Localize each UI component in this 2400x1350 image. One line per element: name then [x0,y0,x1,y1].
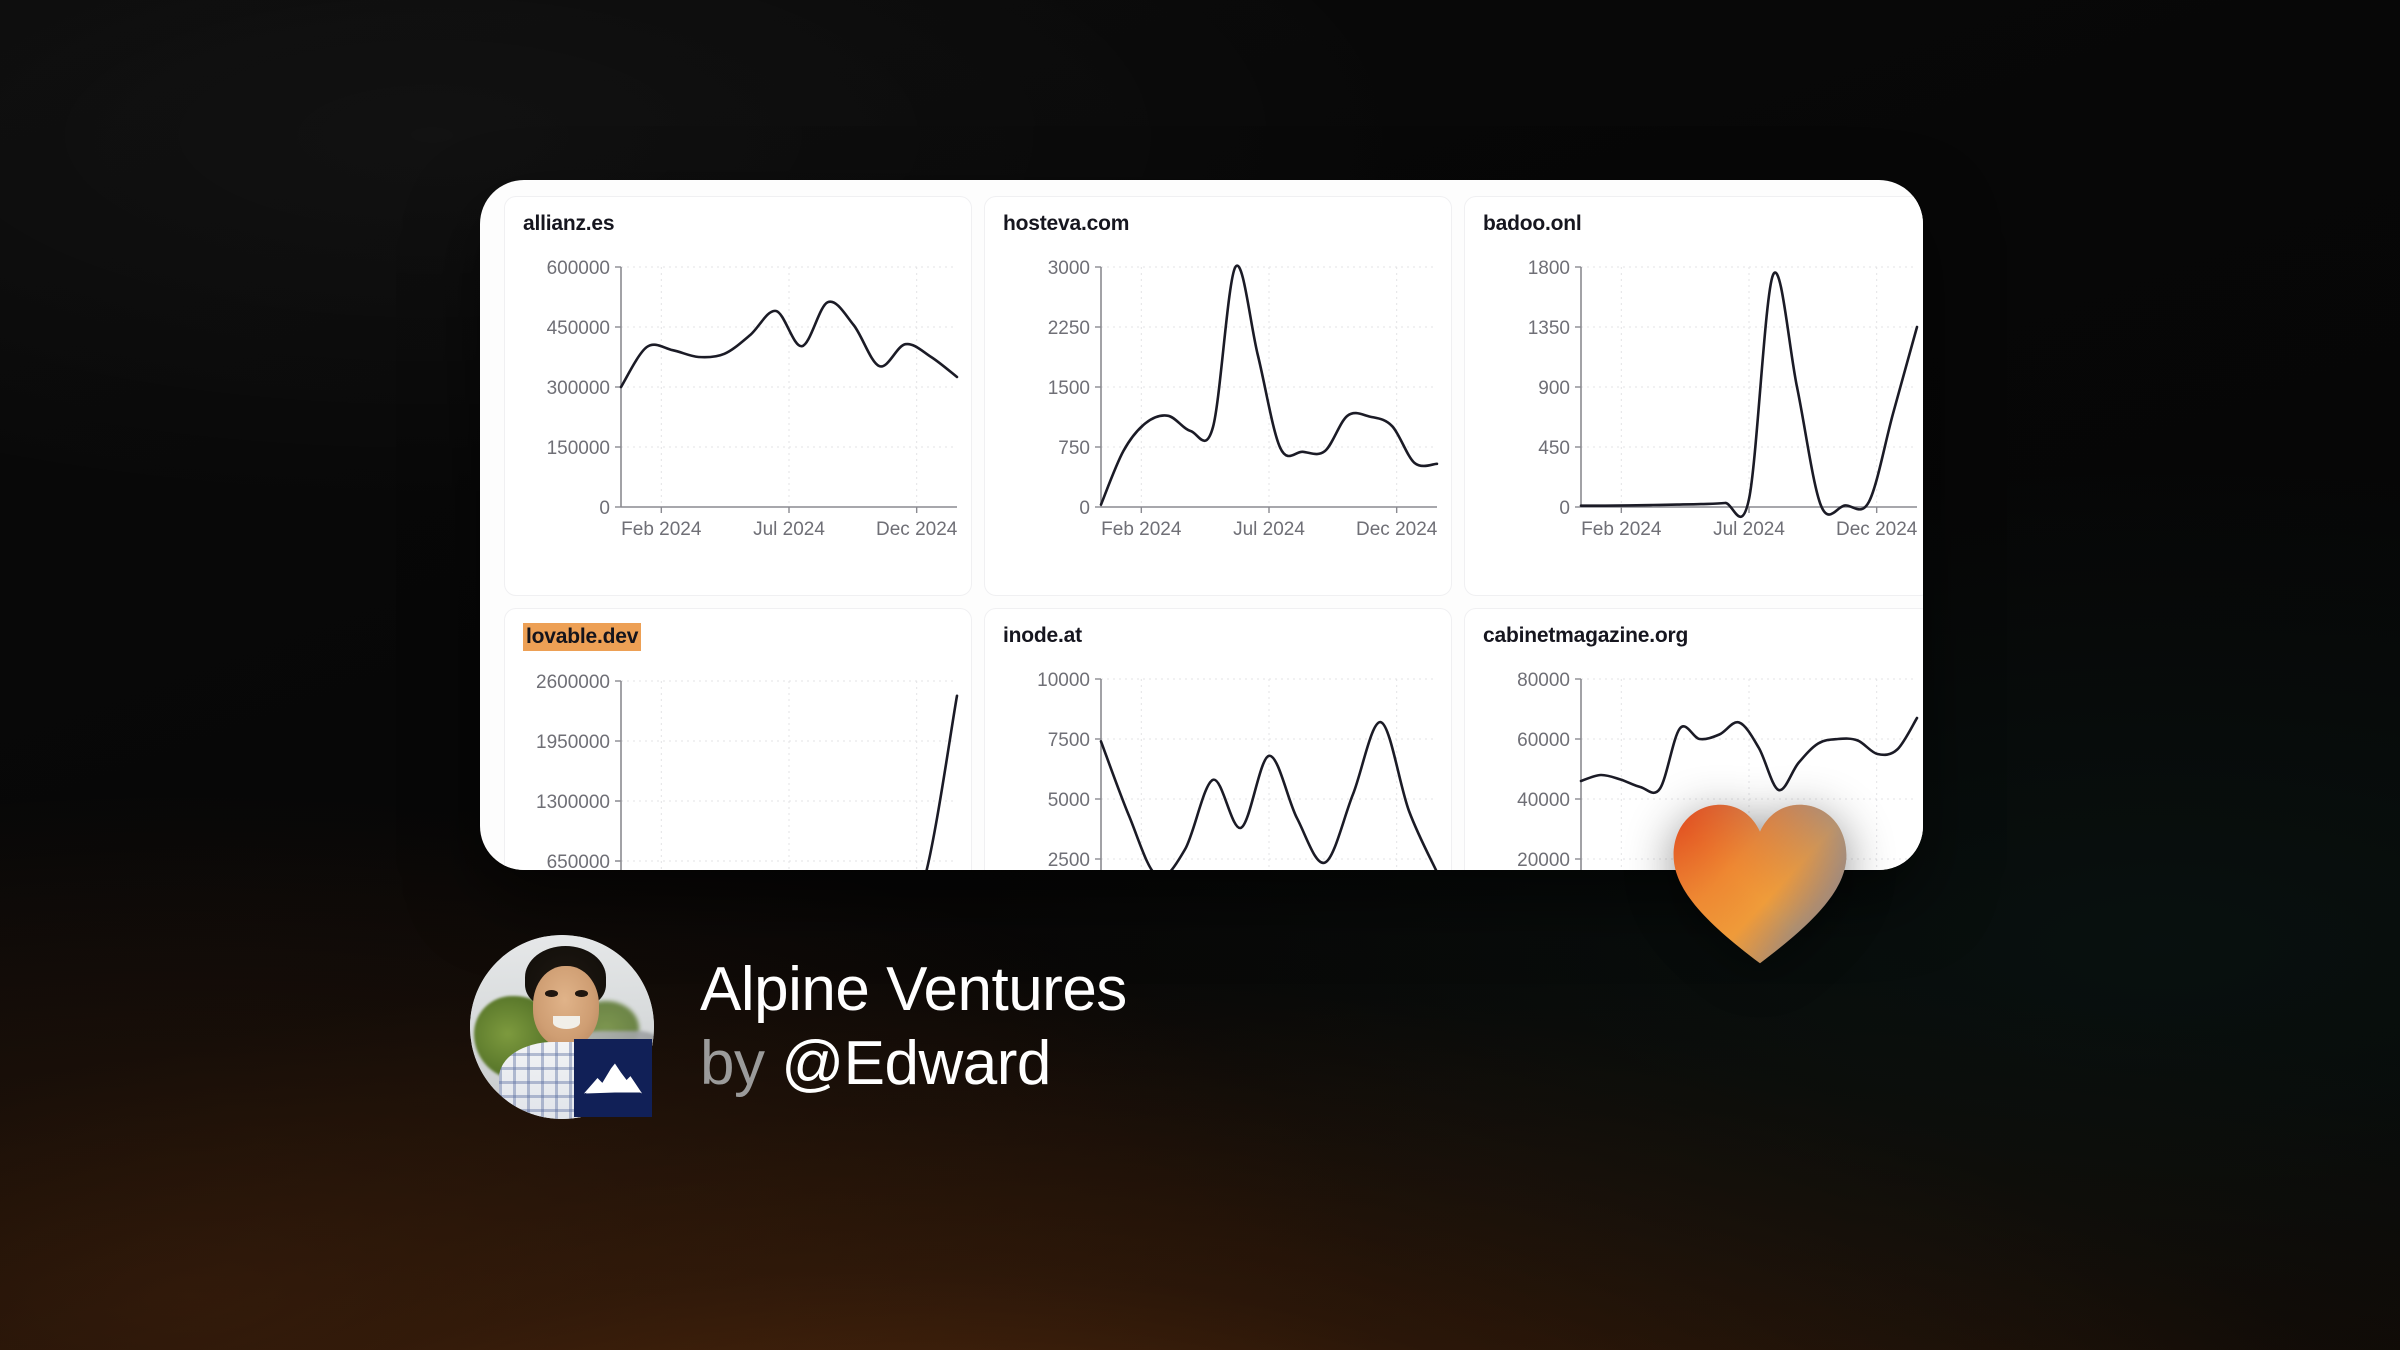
svg-text:Jul 2024: Jul 2024 [753,519,825,540]
svg-text:10000: 10000 [1037,670,1090,691]
page-title: Alpine Ventures [700,957,1127,1023]
byline: by @Edward [700,1031,1127,1097]
chart-card[interactable]: lovable.dev650000130000019500002600000Fe… [504,608,972,870]
svg-text:0: 0 [1079,498,1090,519]
mountain-icon [582,1058,644,1098]
dashboard-panel: allianz.es0150000300000450000600000Feb 2… [480,180,1923,870]
svg-text:1800: 1800 [1528,258,1570,279]
chart-card-title: hosteva.com [1003,211,1129,237]
svg-text:Dec 2024: Dec 2024 [1836,519,1918,540]
mountain-logo-badge[interactable] [574,1039,652,1117]
chart-card[interactable]: inode.at25005000750010000Feb 2024Jul 202… [984,608,1452,870]
line-chart: 0150000300000450000600000Feb 2024Jul 202… [523,253,965,553]
svg-text:150000: 150000 [547,438,610,459]
svg-text:0: 0 [599,498,610,519]
svg-text:Feb 2024: Feb 2024 [1581,519,1662,540]
svg-text:60000: 60000 [1517,730,1570,751]
svg-text:2600000: 2600000 [536,672,610,693]
svg-text:Feb 2024: Feb 2024 [621,519,702,540]
svg-text:3000: 3000 [1048,258,1090,279]
avatar-eye-left [545,990,558,997]
byline-label: by [700,1029,764,1098]
svg-text:Feb 2024: Feb 2024 [1101,519,1182,540]
line-chart: 045090013501800Feb 2024Jul 2024Dec 2024 [1483,253,1923,553]
svg-text:1950000: 1950000 [536,732,610,753]
svg-text:20000: 20000 [1517,850,1570,870]
footer: Alpine Ventures by @Edward [470,935,1127,1119]
svg-text:5000: 5000 [1048,790,1090,811]
svg-text:750: 750 [1058,438,1090,459]
avatar-smile [553,1016,581,1029]
svg-text:7500: 7500 [1048,730,1090,751]
chart-card[interactable]: hosteva.com0750150022503000Feb 2024Jul 2… [984,196,1452,596]
svg-text:300000: 300000 [547,378,610,399]
chart-card-title: inode.at [1003,623,1082,649]
chart-grid: allianz.es0150000300000450000600000Feb 2… [498,190,1923,870]
heart-icon [1670,800,1850,968]
chart-card-title: cabinetmagazine.org [1483,623,1688,649]
avatar-block [470,935,654,1119]
chart-card-title: badoo.onl [1483,211,1582,237]
svg-text:0: 0 [1559,498,1570,519]
svg-text:450: 450 [1538,438,1570,459]
line-chart: 650000130000019500002600000Feb 2024Jul 2… [523,667,965,870]
svg-text:Dec 2024: Dec 2024 [876,519,958,540]
svg-text:40000: 40000 [1517,790,1570,811]
svg-text:2500: 2500 [1048,850,1090,870]
heart-reaction[interactable] [1670,800,1850,968]
svg-text:900: 900 [1538,378,1570,399]
avatar-face [533,966,599,1047]
footer-titles: Alpine Ventures by @Edward [700,957,1127,1096]
author-handle[interactable]: @Edward [781,1029,1051,1098]
svg-text:600000: 600000 [547,258,610,279]
line-chart: 25005000750010000Feb 2024Jul 2024Dec 202… [1003,665,1445,870]
svg-text:Jul 2024: Jul 2024 [1713,519,1785,540]
svg-text:1300000: 1300000 [536,792,610,813]
chart-card-title: lovable.dev [523,623,641,651]
chart-card[interactable]: badoo.onl045090013501800Feb 2024Jul 2024… [1464,196,1923,596]
svg-text:Jul 2024: Jul 2024 [1233,519,1305,540]
line-chart: 0750150022503000Feb 2024Jul 2024Dec 2024 [1003,253,1445,553]
svg-text:2250: 2250 [1048,318,1090,339]
avatar-eye-right [575,990,588,997]
svg-text:Dec 2024: Dec 2024 [1356,519,1438,540]
svg-text:1350: 1350 [1528,318,1570,339]
chart-card-title: allianz.es [523,211,614,237]
chart-card[interactable]: allianz.es0150000300000450000600000Feb 2… [504,196,972,596]
svg-text:450000: 450000 [547,318,610,339]
svg-text:80000: 80000 [1517,670,1570,691]
svg-text:1500: 1500 [1048,378,1090,399]
svg-text:650000: 650000 [547,852,610,870]
